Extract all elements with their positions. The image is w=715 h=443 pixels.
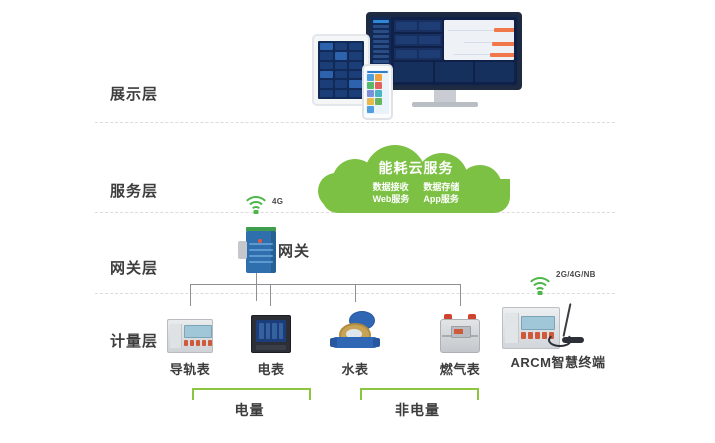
line-bus-to-electric-meter xyxy=(270,284,271,306)
antenna-base-icon xyxy=(562,337,584,343)
meter-label-electric: 电表 xyxy=(236,359,306,378)
line-bus-to-water-meter xyxy=(355,284,356,302)
cloud-right-services: 数据存储 App服务 xyxy=(423,182,459,205)
cloud-service-data-storage: 数据存储 xyxy=(423,182,459,193)
gateway-body xyxy=(246,231,276,273)
line-meter-bus xyxy=(190,284,460,285)
cloud-title: 能耗云服务 xyxy=(379,158,454,178)
din-rail-meter-icon xyxy=(155,305,225,353)
monitor-stand-base xyxy=(412,102,478,107)
cloud-service-data-receive: 数据接收 xyxy=(373,182,409,193)
cloud-service-web: Web服务 xyxy=(373,194,410,205)
antenna-icon xyxy=(562,303,571,337)
layer-label-display: 展示层 xyxy=(110,83,200,104)
gas-meter-icon xyxy=(425,305,495,353)
monitor-stand-neck xyxy=(434,90,456,102)
bracket-electric-group xyxy=(192,388,311,400)
terminal-label-wrap: ARCM智慧终端 xyxy=(500,352,616,371)
layer-label-gateway: 网关层 xyxy=(110,257,200,278)
tablet-screen xyxy=(318,41,364,99)
monitor-bottom-widgets xyxy=(394,62,514,82)
electric-meter-icon xyxy=(236,305,306,353)
water-meter-icon xyxy=(320,301,390,353)
monitor-stat-cards xyxy=(394,20,442,60)
display-layer-devices xyxy=(300,8,535,118)
gateway-label: 网关 xyxy=(278,240,310,261)
gateway-led-icon xyxy=(258,239,262,243)
terminal-wifi-signal-icon xyxy=(527,277,553,295)
gateway-signal-label: 4G xyxy=(272,197,283,206)
arcm-terminal-device xyxy=(500,305,616,351)
gateway-connector xyxy=(238,241,247,259)
meter-water: 水表 xyxy=(320,301,390,378)
meter-label-gas: 燃气表 xyxy=(425,359,495,378)
line-bus-to-gas-meter xyxy=(460,284,461,306)
phone-screen xyxy=(366,70,389,114)
monitor-dashboard xyxy=(391,17,517,85)
bracket-non-electric-group xyxy=(360,388,479,400)
cloud-service-app: App服务 xyxy=(423,194,459,205)
meter-electric: 电表 xyxy=(236,305,306,378)
terminal-label: ARCM智慧终端 xyxy=(500,352,616,371)
line-bus-to-din-meter xyxy=(190,284,191,306)
meter-label-water: 水表 xyxy=(320,359,390,378)
smartphone-device xyxy=(362,64,393,120)
separator-display-service xyxy=(95,122,615,123)
energy-cloud-service: 能耗云服务 数据接收 Web服务 数据存储 App服务 xyxy=(318,145,514,213)
terminal-signal-label: 2G/4G/NB xyxy=(556,270,596,279)
meter-label-din-rail: 导轨表 xyxy=(155,359,225,378)
group-label-electric: 电量 xyxy=(192,400,307,420)
meter-din-rail: 导轨表 xyxy=(155,305,225,378)
cloud-left-services: 数据接收 Web服务 xyxy=(373,182,410,205)
wifi-signal-icon xyxy=(243,196,269,214)
architecture-diagram: 展示层 服务层 网关层 计量层 xyxy=(0,0,715,443)
gateway-device xyxy=(238,225,282,273)
layer-label-service: 服务层 xyxy=(110,180,200,201)
monitor-map-panel xyxy=(444,20,514,60)
line-gateway-to-bus xyxy=(256,273,257,301)
group-label-non-electric: 非电量 xyxy=(360,400,475,420)
meter-gas: 燃气表 xyxy=(425,305,495,378)
